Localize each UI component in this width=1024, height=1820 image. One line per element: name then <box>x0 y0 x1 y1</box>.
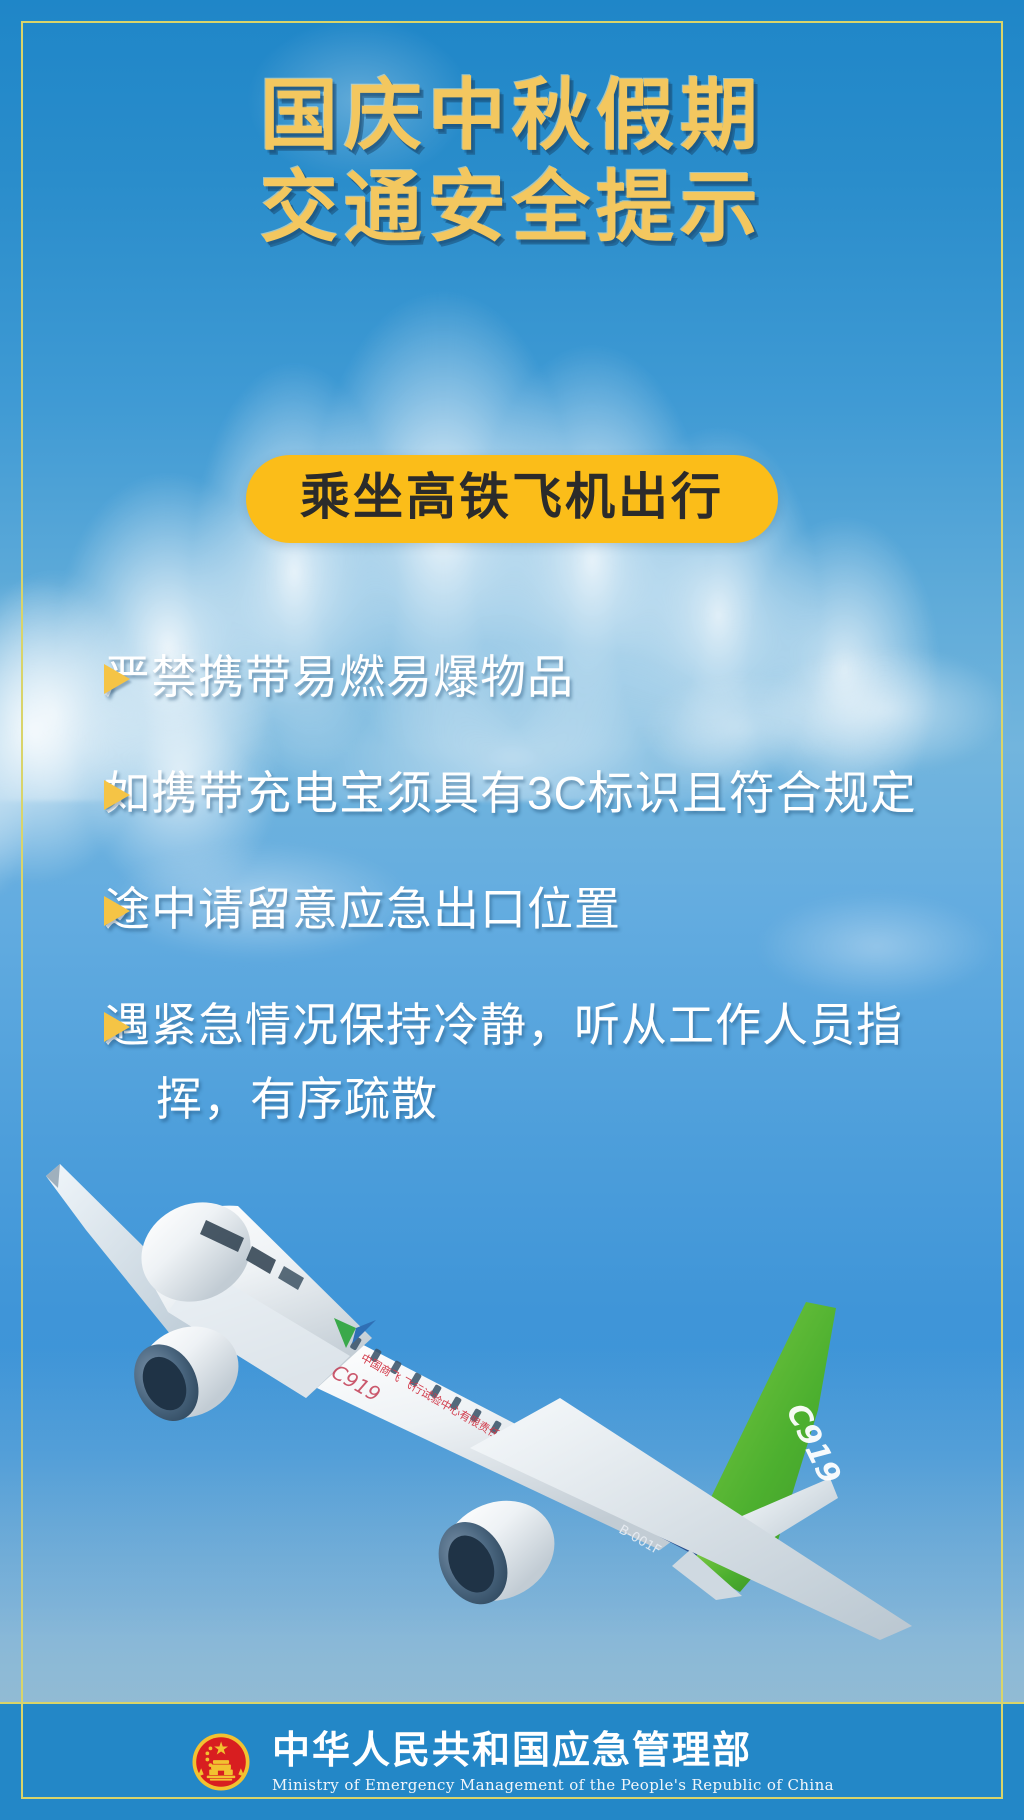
title-line-2: 交通安全提示 <box>0 164 1024 252</box>
organization-name-en: Ministry of Emergency Management of the … <box>272 1776 834 1794</box>
section-badge-label: 乘坐高铁飞机出行 <box>300 468 724 526</box>
list-item: 严禁携带易燃易爆物品 <box>104 640 954 714</box>
poster-canvas: C919 <box>0 0 1024 1820</box>
section-badge-wrap: 乘坐高铁飞机出行 <box>0 455 1024 543</box>
list-item: 遇紧急情况保持冷静，听从工作人员指挥，有序疏散 <box>104 988 954 1136</box>
triangle-right-icon <box>104 1012 130 1042</box>
triangle-right-icon <box>104 780 130 810</box>
safety-tips-list: 严禁携带易燃易爆物品 如携带充电宝须具有3C标识且符合规定 途中请留意应急出口位… <box>104 640 954 1178</box>
poster-title: 国庆中秋假期 交通安全提示 <box>0 72 1024 252</box>
tip-text: 如携带充电宝须具有3C标识且符合规定 <box>156 756 917 830</box>
footer-bar: 中华人民共和国应急管理部 Ministry of Emergency Manag… <box>0 1702 1024 1820</box>
tip-text: 途中请留意应急出口位置 <box>156 872 621 946</box>
triangle-right-icon <box>104 664 130 694</box>
title-line-1: 国庆中秋假期 <box>0 72 1024 160</box>
tip-text: 遇紧急情况保持冷静，听从工作人员指挥，有序疏散 <box>156 988 954 1136</box>
tip-text: 严禁携带易燃易爆物品 <box>156 640 574 714</box>
triangle-right-icon <box>104 896 130 926</box>
section-badge: 乘坐高铁飞机出行 <box>246 455 778 543</box>
footer-text-block: 中华人民共和国应急管理部 Ministry of Emergency Manag… <box>272 1730 834 1794</box>
organization-name-cn: 中华人民共和国应急管理部 <box>272 1730 834 1772</box>
list-item: 途中请留意应急出口位置 <box>104 872 954 946</box>
list-item: 如携带充电宝须具有3C标识且符合规定 <box>104 756 954 830</box>
china-national-emblem-icon <box>190 1731 252 1793</box>
